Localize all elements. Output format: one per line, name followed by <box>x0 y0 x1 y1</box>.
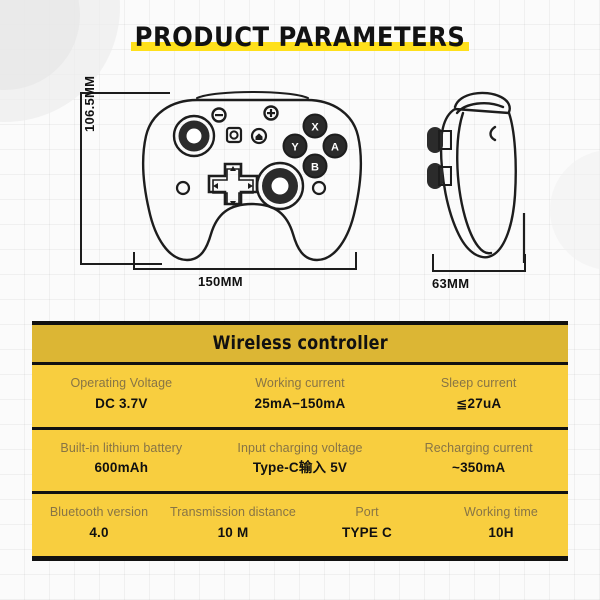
button-b: B <box>304 155 327 178</box>
led-indicator-right <box>313 182 325 194</box>
spec-value: 25mA−150mA <box>215 393 386 416</box>
spec-cell-operating-voltage: Operating Voltage DC 3.7V <box>32 374 211 416</box>
spec-label: Working time <box>438 503 564 522</box>
led-indicator-left <box>177 182 189 194</box>
shoulder-buttons <box>427 127 451 189</box>
spec-table-header-text: Wireless controller <box>212 332 387 354</box>
button-y: Y <box>284 135 307 158</box>
svg-text:A: A <box>331 142 339 154</box>
spec-value: 10 M <box>170 522 296 545</box>
controller-front-illustration: X Y A B <box>135 88 370 268</box>
plus-button <box>265 107 278 120</box>
spec-cell-port: Port TYPE C <box>300 503 434 545</box>
spec-cell-input-charging-voltage: Input charging voltage Type-C输入 5V <box>211 439 390 481</box>
spec-label: Port <box>304 503 430 522</box>
spec-table-header: Wireless controller <box>32 321 568 365</box>
dpad <box>209 164 257 206</box>
spec-cell-sleep-current: Sleep current ≦27uA <box>389 374 568 416</box>
side-width-dimension-line <box>432 270 526 272</box>
controller-side-illustration <box>425 85 540 267</box>
page-title: PRODUCT PARAMETERS <box>0 22 600 53</box>
spec-cell-working-current: Working current 25mA−150mA <box>211 374 390 416</box>
width-dimension-label: 150MM <box>198 274 243 289</box>
spec-value: ≦27uA <box>393 393 564 416</box>
minus-button <box>213 109 226 122</box>
spec-value: Type-C输入 5V <box>215 457 386 480</box>
spec-table: Wireless controller Operating Voltage DC… <box>32 321 568 561</box>
spec-value: 4.0 <box>36 522 162 545</box>
spec-label: Recharging current <box>393 439 564 458</box>
spec-label: Sleep current <box>393 374 564 393</box>
spec-value: DC 3.7V <box>36 393 207 416</box>
spec-cell-battery: Built-in lithium battery 600mAh <box>32 439 211 481</box>
capture-button <box>227 128 241 142</box>
spec-label: Bluetooth version <box>36 503 162 522</box>
svg-text:X: X <box>311 122 319 134</box>
product-parameters-page: PRODUCT PARAMETERS 106.5MM 150MM 63MM <box>0 0 600 600</box>
spec-cell-transmission-distance: Transmission distance 10 M <box>166 503 300 545</box>
spec-value: ~350mA <box>393 457 564 480</box>
button-x: X <box>304 115 327 138</box>
title-text: PRODUCT PARAMETERS <box>135 22 466 53</box>
table-row: Operating Voltage DC 3.7V Working curren… <box>32 365 568 430</box>
left-analog-stick <box>174 116 214 156</box>
table-row: Bluetooth version 4.0 Transmission dista… <box>32 494 568 561</box>
spec-value: TYPE C <box>304 522 430 545</box>
svg-text:Y: Y <box>291 142 299 154</box>
svg-text:B: B <box>311 162 319 174</box>
width-dimension-line <box>133 268 357 270</box>
button-a: A <box>324 135 347 158</box>
spec-label: Built-in lithium battery <box>36 439 207 458</box>
side-width-dimension-label: 63MM <box>432 276 469 291</box>
spec-value: 10H <box>438 522 564 545</box>
home-button <box>252 129 266 143</box>
spec-label: Working current <box>215 374 386 393</box>
height-dimension-label: 106.5MM <box>82 76 97 132</box>
spec-label: Input charging voltage <box>215 439 386 458</box>
right-analog-stick <box>257 163 303 209</box>
table-row: Built-in lithium battery 600mAh Input ch… <box>32 430 568 495</box>
spec-cell-bluetooth-version: Bluetooth version 4.0 <box>32 503 166 545</box>
spec-cell-recharging-current: Recharging current ~350mA <box>389 439 568 481</box>
spec-value: 600mAh <box>36 457 207 480</box>
spec-label: Operating Voltage <box>36 374 207 393</box>
spec-label: Transmission distance <box>170 503 296 522</box>
spec-cell-working-time: Working time 10H <box>434 503 568 545</box>
